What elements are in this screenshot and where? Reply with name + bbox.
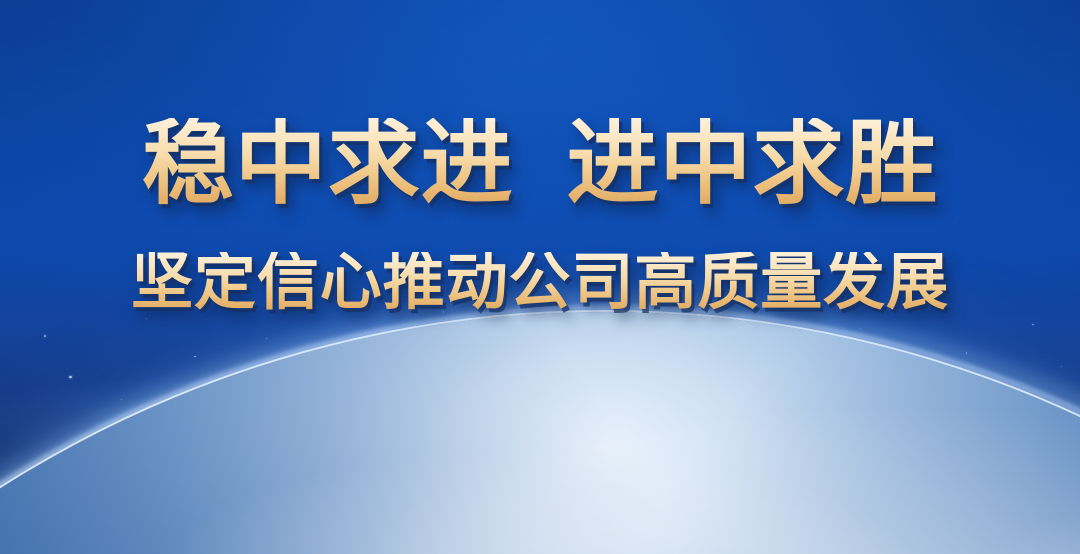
- headline-block: 稳中求进 进中求胜 坚定信心推动公司高质量发展: [0, 118, 1080, 314]
- poster-banner: 稳中求进 进中求胜 坚定信心推动公司高质量发展: [0, 0, 1080, 554]
- page-subtitle: 坚定信心推动公司高质量发展: [0, 252, 1080, 314]
- page-title: 稳中求进 进中求胜: [0, 118, 1080, 210]
- earth-sphere-icon: [0, 312, 1080, 554]
